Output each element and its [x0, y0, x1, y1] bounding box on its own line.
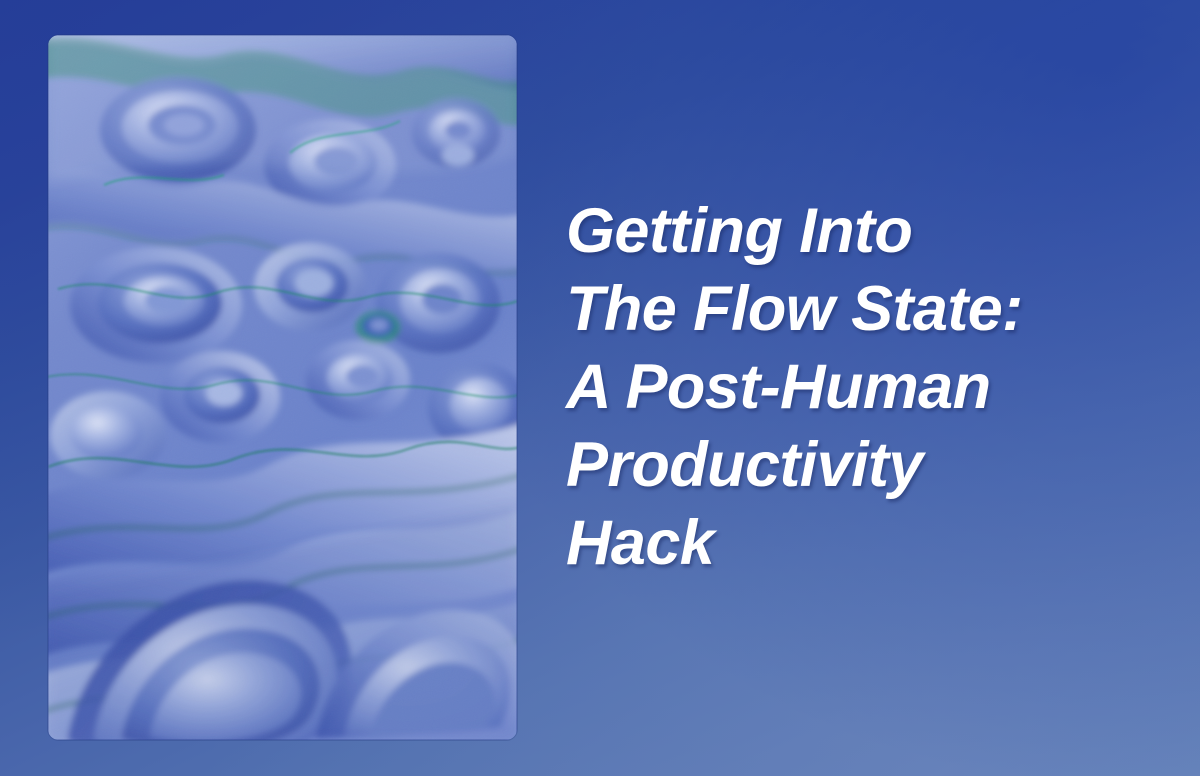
abstract-topography-graphic — [48, 35, 517, 740]
title-line-3: A Post-Human — [566, 348, 1086, 426]
hero-artwork-image — [48, 35, 517, 740]
title-line-4: Productivity — [566, 426, 1086, 504]
article-hero-card: Getting Into The Flow State: A Post-Huma… — [0, 0, 1200, 776]
title-line-5: Hack — [566, 504, 1086, 582]
title-line-2: The Flow State: — [566, 270, 1086, 348]
title-line-1: Getting Into — [566, 192, 1086, 270]
article-title: Getting Into The Flow State: A Post-Huma… — [566, 192, 1086, 582]
